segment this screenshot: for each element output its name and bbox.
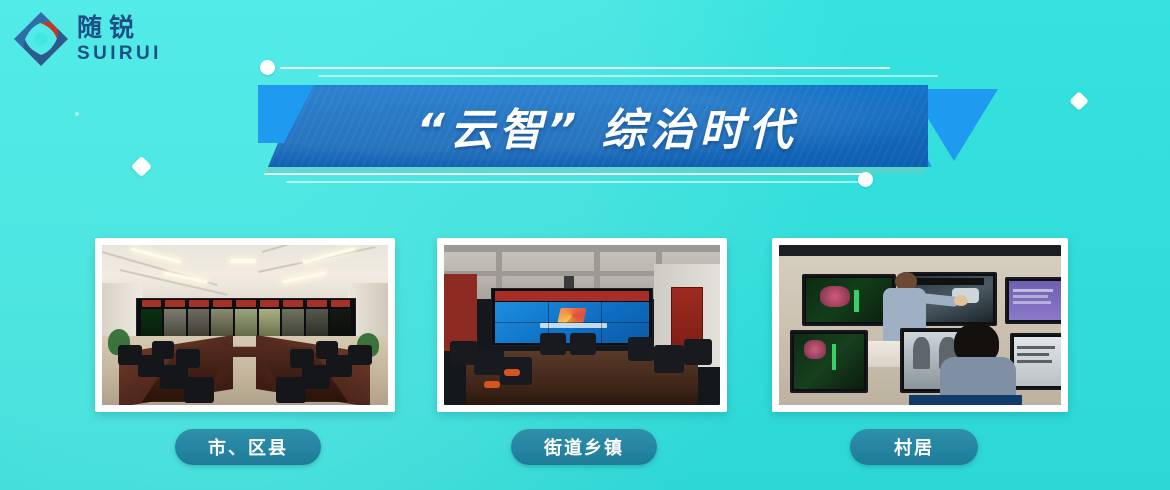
title-banner: “云智” 综治时代: [268, 85, 928, 167]
monitoring-room-officer: [779, 245, 1061, 405]
bottom-decoration-line-1: [264, 173, 864, 175]
page-title: “云智” 综治时代: [268, 85, 928, 167]
diamond-decoration-right: [1069, 91, 1089, 111]
top-decoration-dot: [260, 60, 275, 75]
meeting-room-blue-screen: [444, 245, 720, 405]
card-city-district[interactable]: 市、区县: [95, 238, 395, 412]
top-decoration-line-1: [280, 67, 890, 69]
logo-english-name: SUIRUI: [77, 44, 162, 63]
logo-chinese-name: 随锐: [77, 15, 162, 40]
card-photo-frame: [95, 238, 395, 412]
card-photo-frame: [437, 238, 727, 412]
card-street-town[interactable]: 街道乡镇: [437, 238, 727, 412]
conference-room-video-wall: [102, 245, 388, 405]
card-photo-frame: [772, 238, 1068, 412]
bottom-decoration-line-2: [286, 181, 861, 183]
top-decoration-line-2: [318, 75, 938, 77]
suirui-logo-text: 随锐 SUIRUI: [77, 15, 162, 63]
card-label-city-district[interactable]: 市、区县: [175, 429, 321, 465]
diamond-decoration-left: [131, 156, 152, 177]
suirui-logo[interactable]: 随锐 SUIRUI: [14, 12, 162, 66]
card-label-village[interactable]: 村居: [850, 429, 978, 465]
suirui-logo-mark: [14, 12, 68, 66]
card-village[interactable]: 村居: [772, 238, 1068, 412]
diamond-decoration-small: [74, 111, 80, 117]
title-banner-group: “云智” 综治时代: [258, 56, 948, 188]
cards-row: 市、区县: [0, 238, 1170, 478]
bottom-decoration-dot: [858, 172, 873, 187]
card-label-street-town[interactable]: 街道乡镇: [511, 429, 657, 465]
